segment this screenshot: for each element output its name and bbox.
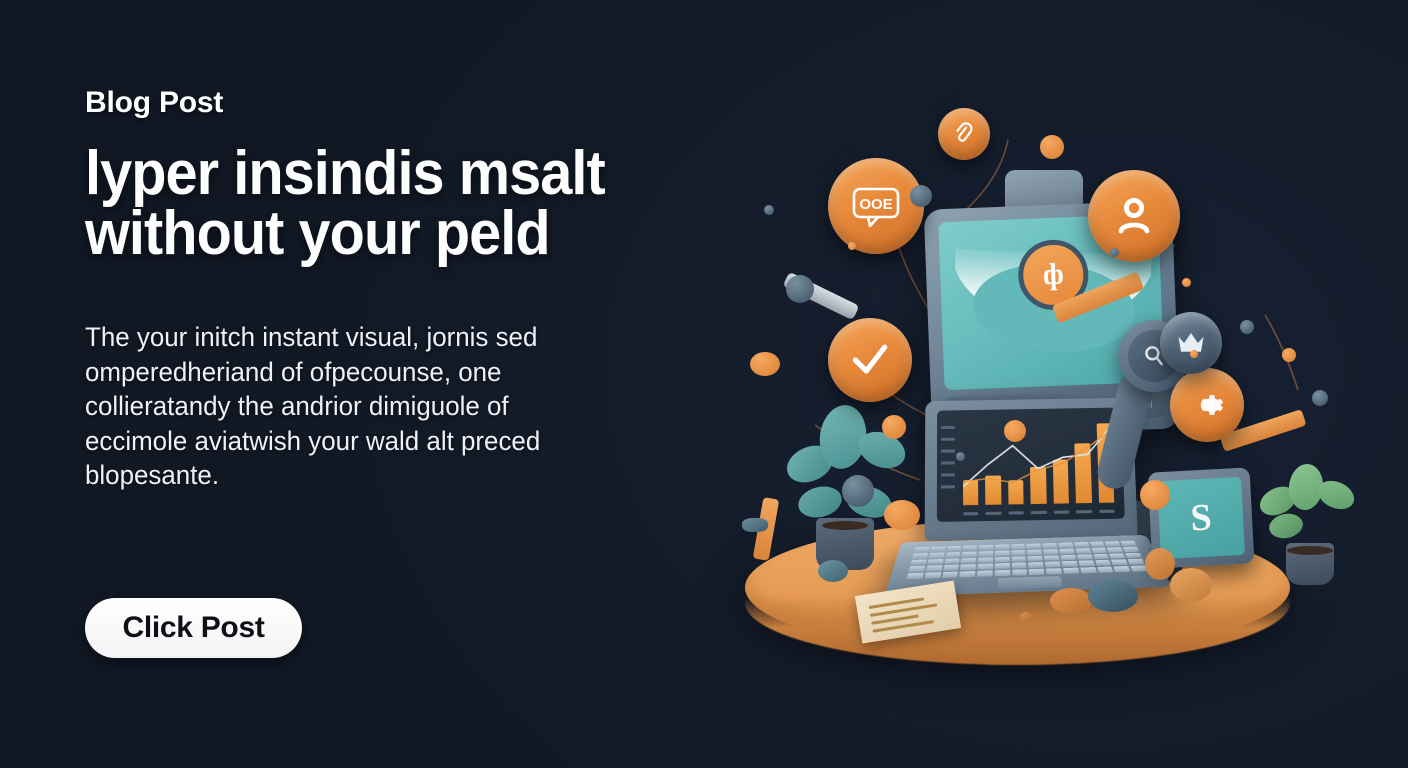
orb	[1140, 480, 1170, 510]
keyboard-key	[945, 552, 960, 558]
keyboard-key	[914, 547, 930, 552]
keyboard-key	[995, 557, 1010, 563]
keyboard-key	[960, 564, 976, 570]
keyboard-key	[906, 573, 923, 579]
keyboard-key	[1012, 563, 1027, 569]
keyboard-key	[977, 571, 993, 577]
desk-blob	[818, 560, 848, 582]
keyboard-key	[1046, 568, 1062, 574]
orb	[1182, 278, 1191, 287]
orb	[882, 415, 906, 439]
gear-badge[interactable]	[1170, 368, 1244, 442]
keyboard-key	[1125, 553, 1141, 559]
keyboard-key	[910, 559, 926, 565]
orb	[848, 242, 856, 250]
keyboard-key	[1012, 569, 1028, 575]
keyboard-key	[1075, 548, 1090, 553]
keyboard-key	[929, 552, 945, 558]
keyboard-key	[1114, 566, 1131, 572]
keyboard-key	[1074, 542, 1089, 547]
keyboard-key	[995, 570, 1010, 576]
keyboard-key	[930, 546, 945, 551]
body-paragraph: The your initch instant visual, jornis s…	[85, 320, 608, 493]
keyboard-key	[1028, 562, 1043, 568]
orb	[764, 205, 774, 215]
orb	[956, 452, 965, 461]
keyboard-key	[946, 546, 961, 551]
keyboard-key	[1128, 559, 1145, 565]
pot-soil	[1287, 546, 1333, 555]
keyboard-key	[1011, 556, 1026, 562]
keyboard-key	[1063, 568, 1079, 574]
keyboard-key	[1061, 555, 1077, 561]
keyboard-key	[979, 545, 993, 550]
orb	[1282, 348, 1296, 362]
user-profile-badge[interactable]	[1088, 170, 1180, 262]
keyboard-key	[1027, 549, 1042, 555]
keyboard-key	[1107, 547, 1123, 552]
plant-pot	[1286, 543, 1334, 585]
laptop-trackpad	[997, 576, 1061, 589]
orb	[1110, 248, 1119, 257]
page-title: lyper insindis msalt without your peld	[85, 144, 606, 264]
orb	[750, 352, 780, 376]
keyboard-key	[962, 551, 977, 557]
crown-badge[interactable]	[1160, 312, 1222, 374]
keyboard-key	[1027, 543, 1042, 548]
hero-illustration: ф onvenj	[720, 20, 1360, 700]
keyboard-key	[1111, 559, 1128, 565]
keyboard-key	[995, 563, 1010, 569]
keyboard-key	[960, 571, 976, 577]
orb	[786, 275, 814, 303]
keyboard-key	[944, 558, 960, 564]
keyboard-key	[1093, 554, 1109, 560]
desk-blob	[1050, 588, 1092, 614]
keyboard-key	[1029, 569, 1045, 575]
gear-icon	[1187, 385, 1227, 425]
check-icon	[848, 338, 892, 382]
keyboard-key	[1077, 554, 1093, 560]
orb	[910, 185, 932, 207]
keyboard-key	[1105, 541, 1121, 546]
paperclip-badge[interactable]	[938, 108, 990, 160]
keyboard-key	[1097, 567, 1114, 573]
keyboard-key	[1078, 561, 1094, 567]
keyboard-key	[963, 545, 978, 550]
keyboard-key	[1043, 549, 1058, 554]
orb	[1240, 320, 1254, 334]
keyboard-key	[1059, 548, 1074, 553]
keyboard-key	[942, 572, 958, 578]
keyboard-key	[1121, 541, 1137, 546]
keyboard-key	[927, 559, 943, 565]
keyboard-key	[1123, 546, 1139, 551]
laptop-bar-chart	[963, 419, 1114, 505]
desk-blob	[1145, 548, 1175, 580]
laptop-keyboard	[906, 541, 1147, 580]
keyboard-key	[995, 550, 1009, 556]
keyboard-key	[961, 558, 976, 564]
tablet-screen-glyph: S	[1157, 477, 1245, 559]
orb	[1040, 135, 1064, 159]
chat-bubble-icon: OOE	[850, 184, 902, 228]
keyboard-key	[1091, 547, 1107, 552]
pot-soil	[822, 521, 868, 530]
click-post-button[interactable]: Click Post	[85, 598, 302, 658]
keyboard-key	[926, 565, 942, 571]
checkmark-badge[interactable]	[828, 318, 912, 402]
keyboard-key	[1011, 550, 1026, 556]
desk-blob	[742, 518, 768, 532]
laptop-screen	[937, 408, 1125, 522]
hero-text-panel: Blog Post lyper insindis msalt without y…	[85, 88, 645, 493]
keyboard-key	[1045, 562, 1061, 568]
keyboard-key	[908, 566, 925, 572]
keyboard-key	[1109, 553, 1125, 559]
keyboard-key	[978, 557, 993, 563]
keyboard-key	[979, 551, 994, 557]
keyboard-key	[1011, 544, 1025, 549]
keyboard-key	[1043, 543, 1058, 548]
speech-bubble-label: OOE	[859, 196, 892, 213]
desk-blob	[1170, 568, 1212, 602]
eyebrow-label: Blog Post	[85, 88, 645, 118]
user-icon	[1110, 192, 1158, 240]
blog-post-banner: Blog Post lyper insindis msalt without y…	[0, 0, 1408, 768]
computer-mouse	[1088, 580, 1138, 612]
keyboard-key	[912, 553, 928, 559]
keyboard-key	[1058, 542, 1073, 547]
keyboard-key	[1090, 542, 1105, 547]
chart-y-ticks	[941, 426, 955, 489]
keyboard-key	[978, 564, 993, 570]
plant-right	[1255, 460, 1365, 585]
orb	[884, 500, 920, 530]
keyboard-key	[1044, 555, 1059, 561]
speech-bubble-badge[interactable]: OOE	[828, 158, 924, 254]
keyboard-key	[924, 572, 941, 578]
orb	[1312, 390, 1328, 406]
paperclip-icon	[951, 121, 977, 147]
orb	[842, 475, 874, 507]
keyboard-key	[1062, 561, 1078, 567]
keyboard-key	[1095, 560, 1111, 566]
orb	[1190, 350, 1198, 358]
keyboard-key	[1080, 567, 1097, 573]
keyboard-key	[1028, 556, 1043, 562]
orb	[1004, 420, 1026, 442]
keyboard-key	[995, 544, 1009, 549]
chart-x-ticks	[963, 510, 1114, 516]
desk-blob	[1020, 612, 1032, 622]
keyboard-key	[943, 565, 959, 571]
chart-trend-line	[963, 419, 1114, 505]
